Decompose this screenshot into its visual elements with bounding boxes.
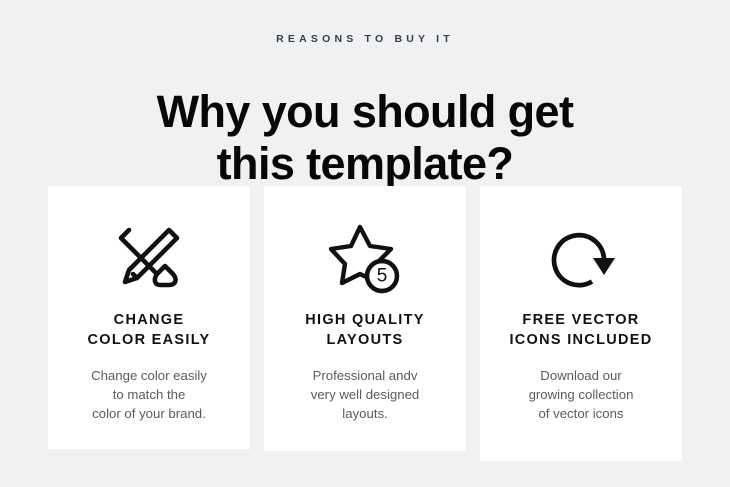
feature-card-title-line-1: CHANGE — [114, 312, 185, 328]
badge-number: 5 — [377, 266, 388, 287]
feature-card-body-line-1: Download our — [540, 368, 621, 383]
page-title: Why you should get this template? — [0, 86, 730, 190]
feature-card-body-line-3: color of your brand. — [92, 406, 206, 421]
promo-section: REASONS TO BUY IT Why you should get thi… — [0, 0, 730, 487]
feature-card-title-line-1: HIGH QUALITY — [305, 312, 425, 328]
feature-card-free-icons: FREE VECTOR ICONS INCLUDED Download our … — [480, 186, 682, 461]
feature-card-high-quality: 5 HIGH QUALITY LAYOUTS Professional andv… — [264, 186, 466, 451]
headline-line-1: Why you should get — [157, 86, 574, 137]
headline-line-2: this template? — [217, 138, 514, 189]
feature-card-change-color: CHANGE COLOR EASILY Change color easily … — [48, 186, 250, 449]
feature-card-body-line-2: to match the — [113, 387, 186, 402]
feature-card-title: CHANGE COLOR EASILY — [87, 310, 210, 350]
feature-card-title-line-2: LAYOUTS — [326, 332, 403, 348]
feature-card-body-line-3: layouts. — [342, 406, 387, 421]
feature-card-body-line-2: growing collection — [529, 387, 634, 402]
feature-card-body-line-2: very well designed — [311, 387, 420, 402]
section-eyebrow: REASONS TO BUY IT — [0, 33, 730, 45]
feature-card-title-line-1: FREE VECTOR — [522, 312, 639, 328]
feature-card-title-line-2: COLOR EASILY — [87, 332, 210, 348]
feature-card-title: HIGH QUALITY LAYOUTS — [305, 310, 425, 350]
feature-card-body-line-1: Change color easily — [91, 368, 207, 383]
feature-card-body: Change color easily to match the color o… — [91, 366, 207, 423]
pencil-paintbrush-crossed-icon — [112, 212, 186, 304]
feature-card-list: CHANGE COLOR EASILY Change color easily … — [48, 186, 682, 461]
feature-card-body: Download our growing collection of vecto… — [529, 366, 634, 423]
feature-card-body-line-1: Professional andv — [313, 368, 418, 383]
feature-card-body-line-3: of vector icons — [538, 406, 623, 421]
circular-refresh-arrow-icon — [544, 212, 618, 304]
feature-card-title-line-2: ICONS INCLUDED — [509, 332, 652, 348]
feature-card-title: FREE VECTOR ICONS INCLUDED — [509, 310, 652, 350]
feature-card-body: Professional andv very well designed lay… — [311, 366, 420, 423]
star-with-five-badge-icon: 5 — [328, 212, 402, 304]
